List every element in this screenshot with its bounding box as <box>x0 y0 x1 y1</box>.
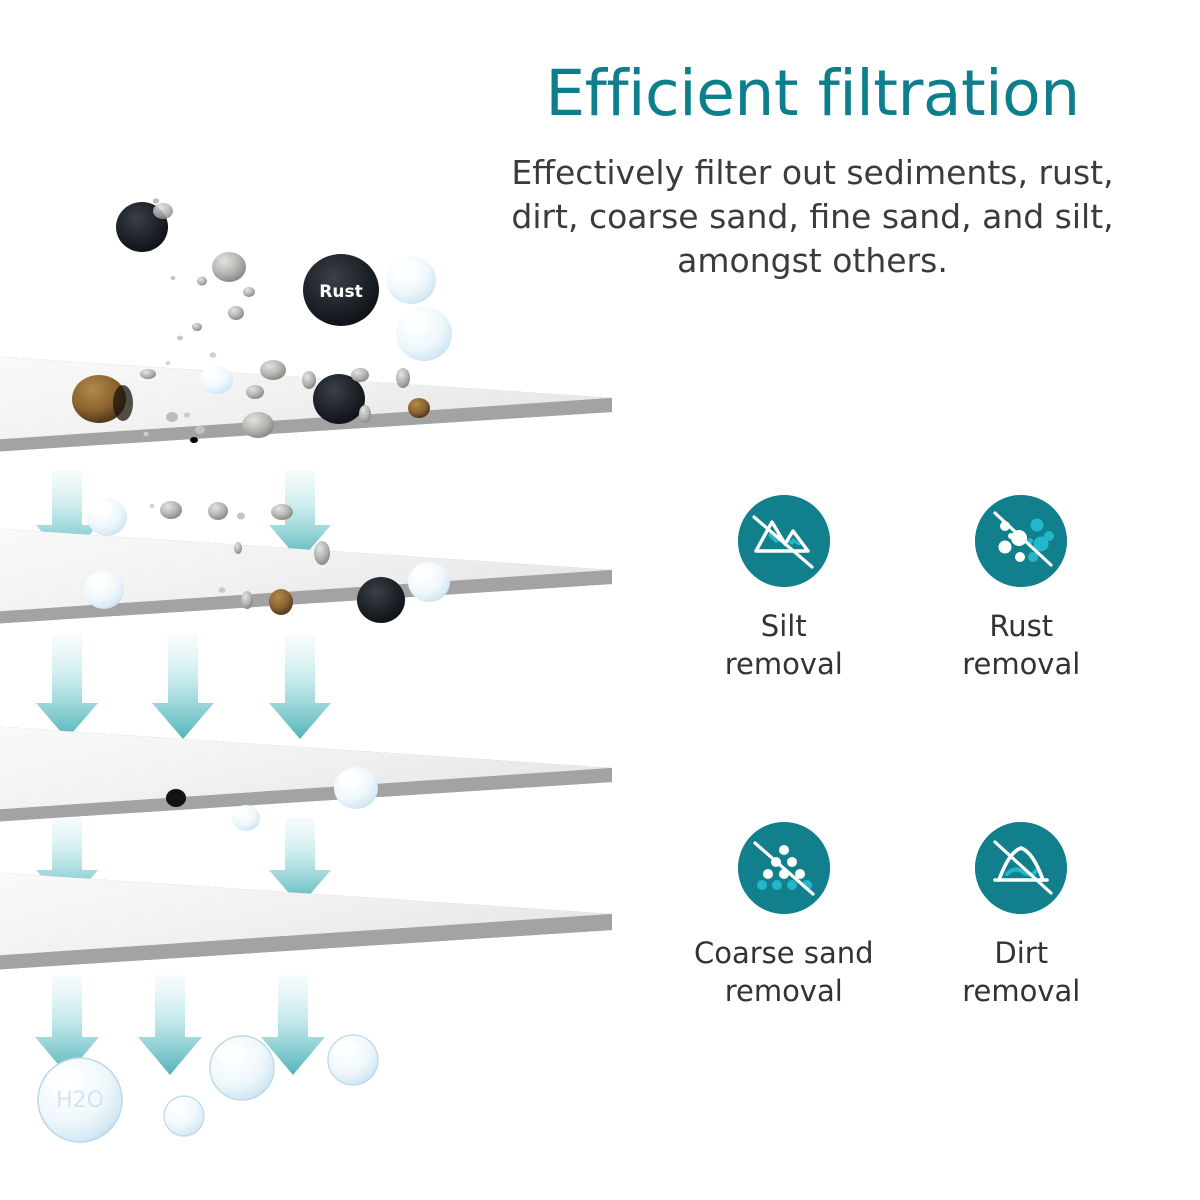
feature-label: Coarse sand removal <box>694 934 874 1011</box>
purified-water-droplets: H2O <box>38 1035 378 1142</box>
rust-clump <box>166 789 186 807</box>
feature-rust-removal[interactable]: Rust removal <box>903 495 1141 684</box>
infographic-canvas: Rust <box>0 0 1200 1200</box>
page-subtitle: Effectively filter out sediments, rust, … <box>485 151 1140 283</box>
coarse-sand <box>212 252 246 282</box>
particles-slash-icon <box>975 495 1067 587</box>
dirt-clump <box>408 398 430 418</box>
feature-grid: Silt removal <box>665 495 1140 1010</box>
feature-dirt-removal[interactable]: Dirt removal <box>903 822 1141 1011</box>
feature-label: Silt removal <box>725 607 843 684</box>
feature-silt-removal[interactable]: Silt removal <box>665 495 903 684</box>
copy-block: Efficient filtration Effectively filter … <box>485 62 1140 283</box>
rust-labelled-clump: Rust <box>303 254 379 326</box>
dirt-clump <box>269 589 293 615</box>
feature-label: Dirt removal <box>962 934 1080 1011</box>
sand-pyramid-slash-icon <box>738 822 830 914</box>
mountain-slash-icon <box>738 495 830 587</box>
feature-label: Rust removal <box>962 607 1080 684</box>
rust-particle-label: Rust <box>319 282 362 302</box>
filter-layer-3 <box>0 726 612 822</box>
water-droplet <box>210 1036 274 1100</box>
rust-clump <box>357 577 405 623</box>
water-droplet <box>328 1035 378 1085</box>
water-droplet <box>164 1096 204 1136</box>
page-title: Efficient filtration <box>485 62 1140 125</box>
mound-slash-icon <box>975 822 1067 914</box>
water-droplet: H2O <box>38 1058 122 1142</box>
feature-coarse-sand-removal[interactable]: Coarse sand removal <box>665 822 903 1011</box>
droplet-label: H2O <box>56 1088 104 1113</box>
